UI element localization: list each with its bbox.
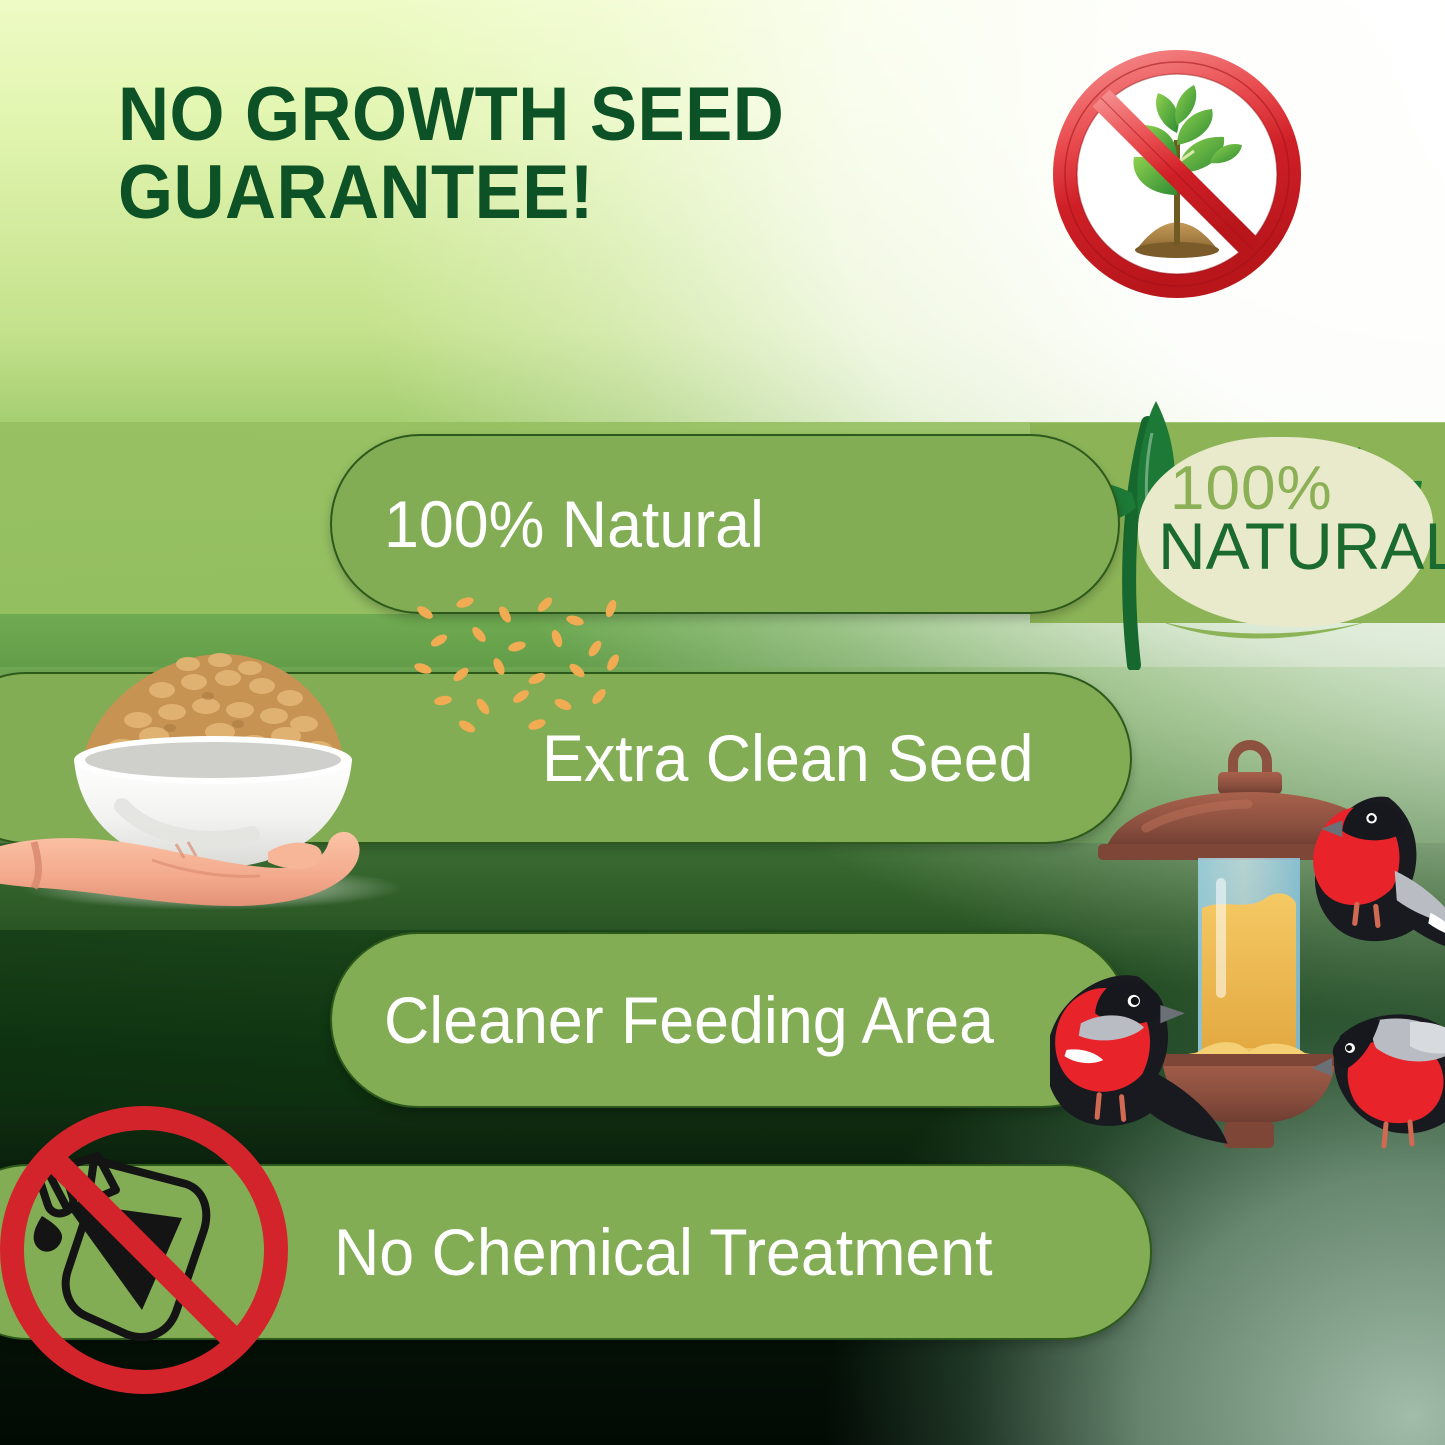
no-chemical-icon <box>0 1098 310 1418</box>
benefit-label-1: 100% Natural <box>384 486 764 562</box>
page-title: NO GROWTH SEED GUARANTEE! <box>118 76 918 233</box>
benefit-pill-natural[interactable]: 100% Natural <box>330 434 1120 614</box>
bird-feeder-icon <box>1050 700 1445 1150</box>
page-title-line-2: GUARANTEE! <box>118 154 918 232</box>
page-title-line-1: NO GROWTH SEED <box>118 76 918 154</box>
benefit-pill-feeding-area[interactable]: Cleaner Feeding Area <box>330 932 1130 1108</box>
hand-holding-bowl-of-seed-icon <box>0 620 512 920</box>
benefit-label-3: Cleaner Feeding Area <box>384 982 994 1058</box>
natural-badge-word: NATURAL <box>1158 508 1445 584</box>
no-plant-growth-icon <box>1048 45 1306 303</box>
infographic-canvas: NO GROWTH SEED GUARANTEE! <box>0 0 1445 1445</box>
benefit-label-4: No Chemical Treatment <box>334 1214 993 1290</box>
